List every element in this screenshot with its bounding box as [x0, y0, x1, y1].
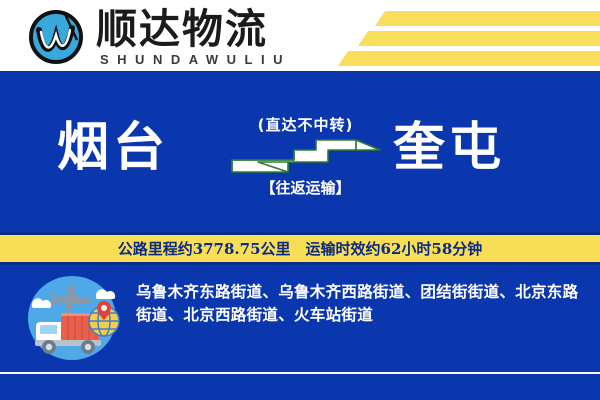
- direct-route-note: (直达不中转): [228, 116, 383, 134]
- destination-city: 奎屯: [393, 118, 505, 178]
- header-stripe-1: [375, 11, 600, 26]
- route-info-bar: 公路里程约3778.75公里 运输时效约62小时58分钟: [0, 232, 600, 265]
- bottom-divider: [0, 372, 600, 374]
- header-stripe-3: [338, 51, 600, 66]
- logistics-route-banner: 顺达物流 SHUNDAWULIU 烟台 奎屯 (直达不中转) 【往返运输】 公路…: [0, 0, 600, 400]
- header-stripe-2: [358, 31, 600, 46]
- brand-name-en: SHUNDAWULIU: [100, 52, 291, 67]
- circle-swoosh-logo-icon: [27, 8, 85, 66]
- truck-airplane-globe-icon: [18, 272, 126, 360]
- route-info-text: 公路里程约3778.75公里 运输时效约62小时58分钟: [118, 238, 483, 259]
- brand-name-cn: 顺达物流: [96, 6, 268, 52]
- roundtrip-note: 【往返运输】: [228, 179, 383, 197]
- origin-city: 烟台: [57, 118, 169, 178]
- banner-header: 顺达物流 SHUNDAWULIU: [0, 0, 600, 71]
- coverage-streets-text: 乌鲁木齐东路街道、乌鲁木齐西路街道、团结街街道、北京东路街道、北京西路街道、火车…: [136, 281, 586, 327]
- header-stripes: [310, 0, 600, 71]
- route-middle-block: (直达不中转) 【往返运输】: [228, 116, 383, 211]
- double-headed-arrow-icon: [228, 138, 383, 174]
